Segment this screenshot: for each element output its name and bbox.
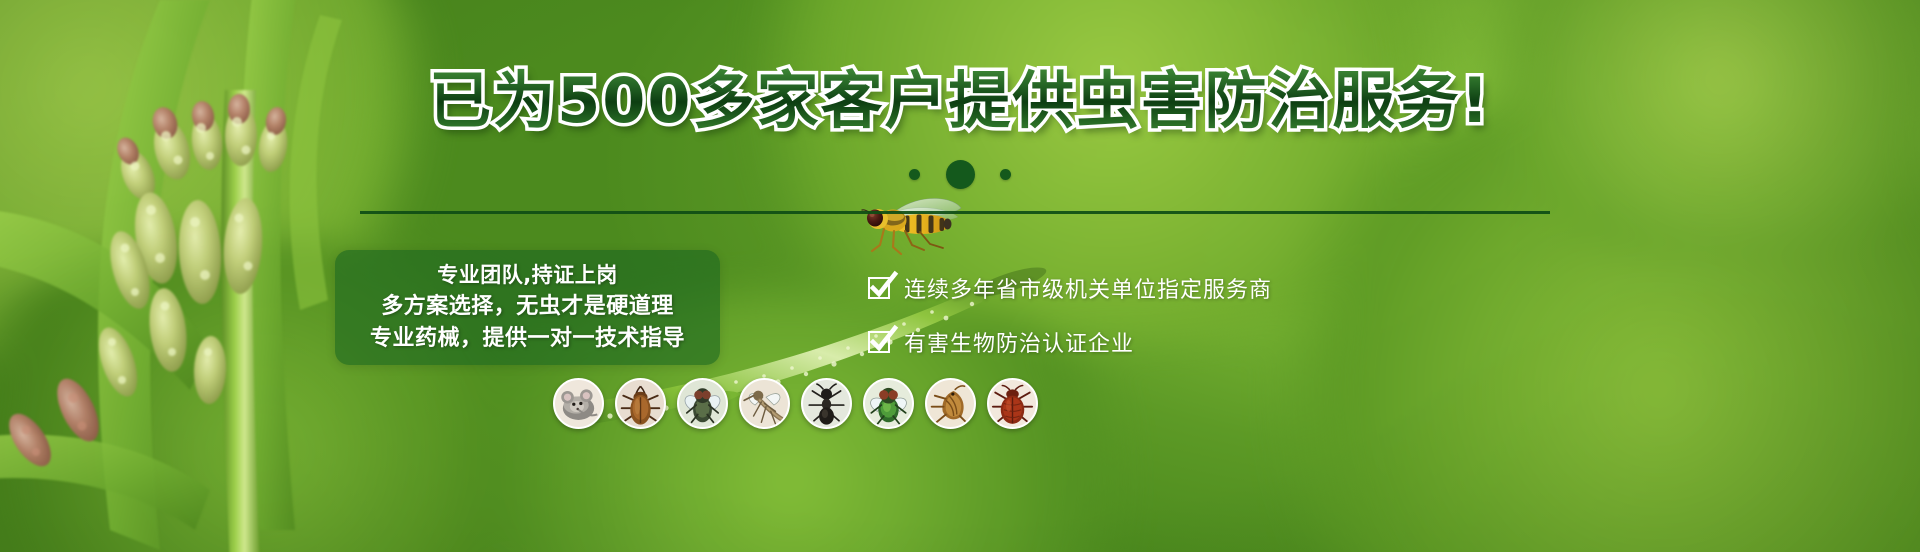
ant-icon[interactable]	[801, 378, 852, 429]
dot-small-icon	[1000, 169, 1011, 180]
checklist-item: 连续多年省市级机关单位指定服务商	[870, 272, 1272, 304]
flea-icon[interactable]	[925, 378, 976, 429]
headline-decor-dots	[0, 160, 1920, 189]
housefly-icon[interactable]	[677, 378, 728, 429]
checklist-item: 有害生物防治认证企业	[870, 326, 1272, 358]
mouse-icon[interactable]	[553, 378, 604, 429]
divider-rule	[360, 211, 1550, 214]
cockroach-icon[interactable]	[615, 378, 666, 429]
bedbug-icon[interactable]	[987, 378, 1038, 429]
checkbox-checked-icon	[870, 277, 892, 299]
dot-large-icon	[946, 160, 975, 189]
pest-control-hero-banner: 已为500多家客户提供虫害防治服务! 已为500多家客户提供虫害防治服务! 专业…	[0, 0, 1920, 552]
checklist-item-label: 连续多年省市级机关单位指定服务商	[904, 272, 1272, 304]
certification-checklist: 连续多年省市级机关单位指定服务商 有害生物防治认证企业	[870, 272, 1272, 380]
hoverfly-insect-image	[845, 193, 965, 263]
claim-line: 专业药械，提供一对一技术指导	[370, 325, 685, 353]
checkbox-checked-icon	[870, 331, 892, 353]
checklist-item-label: 有害生物防治认证企业	[904, 326, 1134, 358]
claim-box: 专业团队,持证上岗 多方案选择，无虫才是硬道理 专业药械，提供一对一技术指导	[335, 250, 720, 365]
claim-line: 多方案选择，无虫才是硬道理	[381, 293, 674, 321]
claim-line: 专业团队,持证上岗	[437, 262, 617, 289]
dot-small-icon	[909, 169, 920, 180]
pest-icon-strip	[553, 378, 1038, 429]
blowfly-icon[interactable]	[863, 378, 914, 429]
mosquito-icon[interactable]	[739, 378, 790, 429]
